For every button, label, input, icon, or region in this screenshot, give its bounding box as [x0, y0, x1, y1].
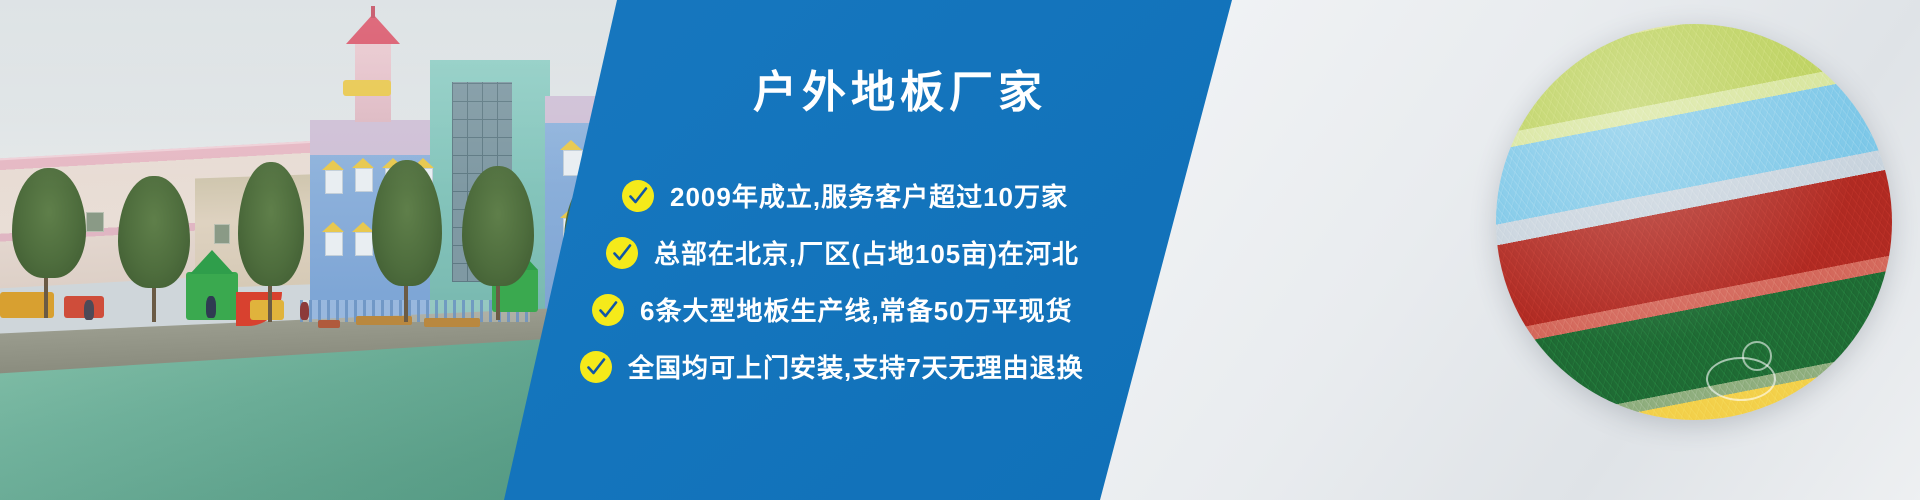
check-circle-icon: [592, 294, 624, 326]
list-item: 全国均可上门安装,支持7天无理由退换: [580, 339, 1320, 394]
list-item: 6条大型地板生产线,常备50万平现货: [592, 282, 1320, 337]
check-circle-icon: [622, 180, 654, 212]
check-circle-icon: [606, 237, 638, 269]
list-item: 总部在北京,厂区(占地105亩)在河北: [606, 225, 1320, 280]
promo-banner: 户外地板厂家 2009年成立,服务客户超过10万家 总部在北京,厂区(占地105…: [0, 0, 1920, 500]
list-item: 2009年成立,服务客户超过10万家: [622, 168, 1320, 223]
list-item-label: 总部在北京,厂区(占地105亩)在河北: [654, 234, 1079, 271]
page-title: 户外地板厂家: [620, 68, 1180, 119]
check-circle-icon: [580, 351, 612, 383]
banner-content: 户外地板厂家 2009年成立,服务客户超过10万家 总部在北京,厂区(占地105…: [0, 0, 1920, 500]
feature-list: 2009年成立,服务客户超过10万家 总部在北京,厂区(占地105亩)在河北 6…: [580, 168, 1320, 396]
list-item-label: 全国均可上门安装,支持7天无理由退换: [628, 348, 1084, 385]
list-item-label: 6条大型地板生产线,常备50万平现货: [640, 291, 1073, 328]
list-item-label: 2009年成立,服务客户超过10万家: [670, 177, 1068, 214]
